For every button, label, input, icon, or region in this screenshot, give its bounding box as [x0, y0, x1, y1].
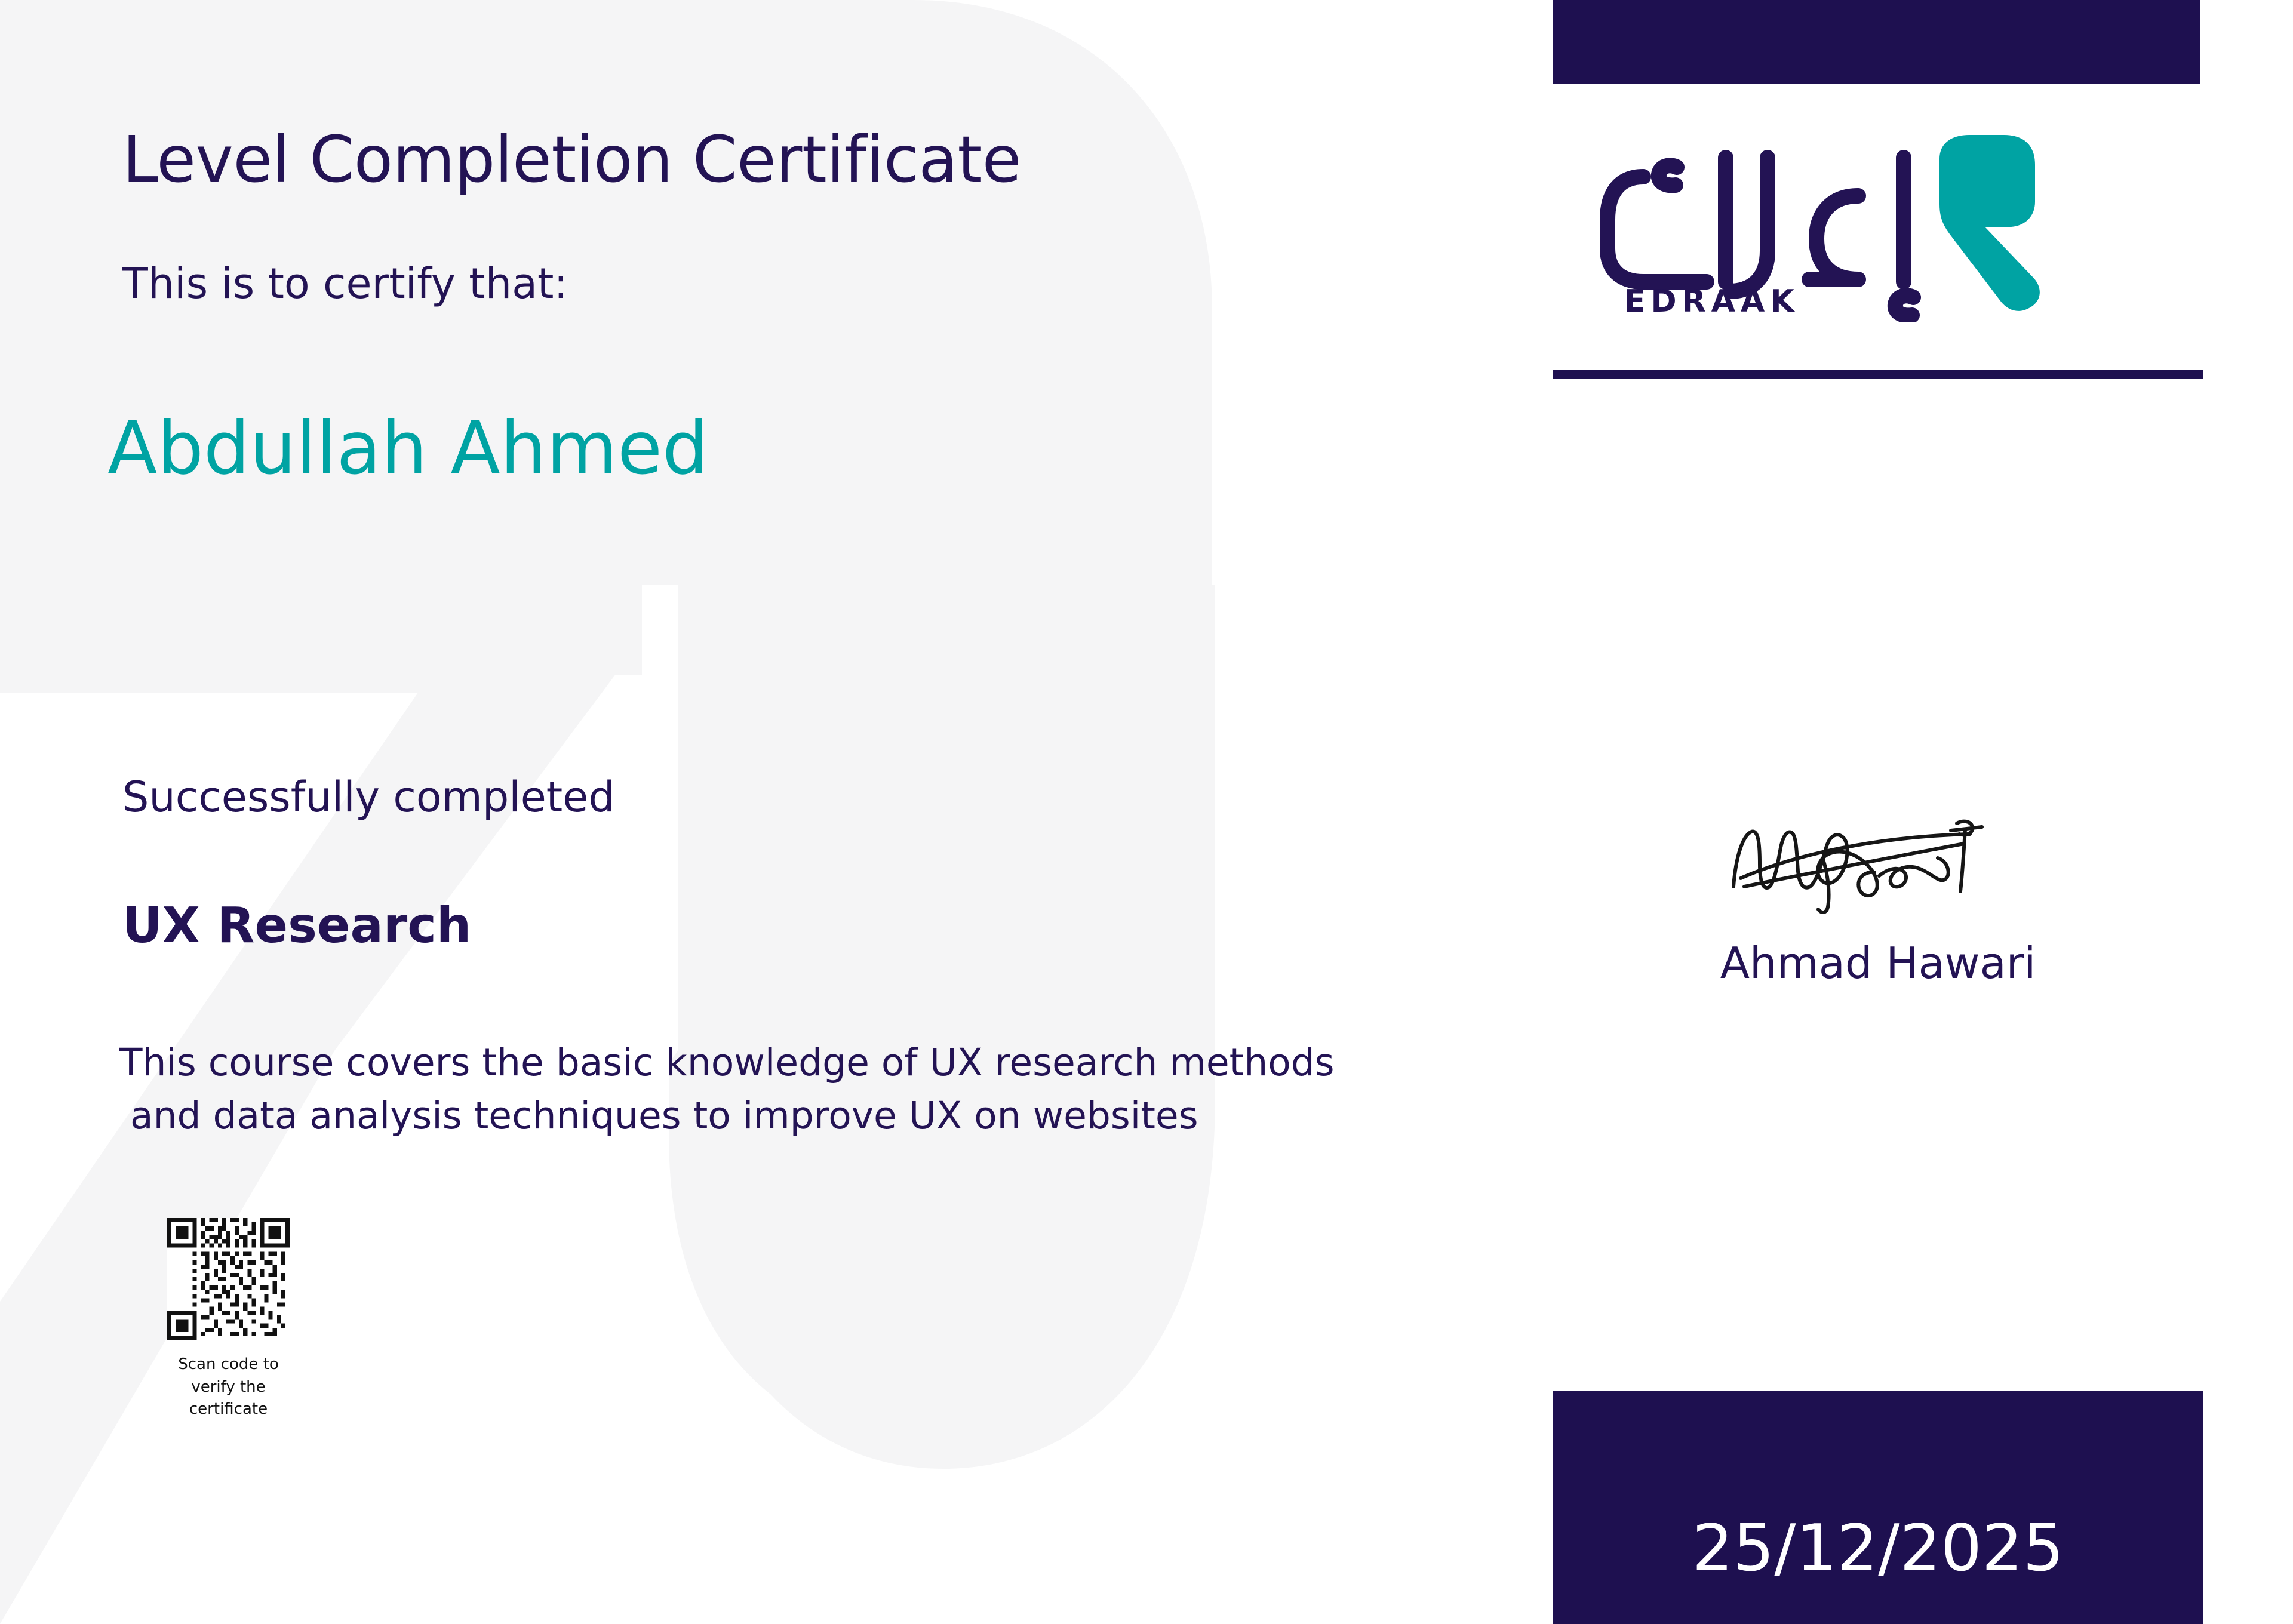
course-description-line-1: This course covers the basic knowledge o… [119, 1036, 1335, 1089]
logo-divider [1553, 370, 2203, 379]
qr-caption: Scan code to verify the certificate [158, 1354, 299, 1421]
qr-caption-line-1: Scan code to [158, 1354, 299, 1376]
qr-code-icon[interactable] [158, 1218, 299, 1340]
handwritten-signature-icon [1723, 809, 2033, 916]
qr-caption-line-2: verify the [158, 1376, 299, 1399]
course-description-line-2: and data analysis techniques to improve … [119, 1089, 1335, 1142]
signer-name: Ahmad Hawari [1553, 942, 2203, 985]
certify-line: This is to certify that: [122, 263, 568, 304]
qr-caption-line-3: certificate [158, 1398, 299, 1421]
completion-label: Successfully completed [122, 776, 615, 818]
qr-verification-block: Scan code to verify the certificate [158, 1218, 299, 1421]
course-description: This course covers the basic knowledge o… [119, 1036, 1335, 1143]
signature-block: Ahmad Hawari [1553, 809, 2203, 985]
certificate-body: Level Completion Certificate This is to … [0, 0, 1505, 1624]
top-accent-bar [1553, 0, 2200, 84]
edraak-wordmark: EDRAAK [1624, 284, 1800, 319]
page-title: Level Completion Certificate [122, 128, 1021, 192]
recipient-name: Abdullah Ahmed [107, 412, 708, 485]
issue-date: 25/12/2025 [1553, 1517, 2203, 1581]
certificate-page: Level Completion Certificate This is to … [0, 0, 2293, 1624]
course-name: UX Research [122, 902, 471, 951]
date-accent-bar [1553, 1391, 2203, 1624]
edraak-logo: EDRAAK [1553, 125, 2200, 322]
